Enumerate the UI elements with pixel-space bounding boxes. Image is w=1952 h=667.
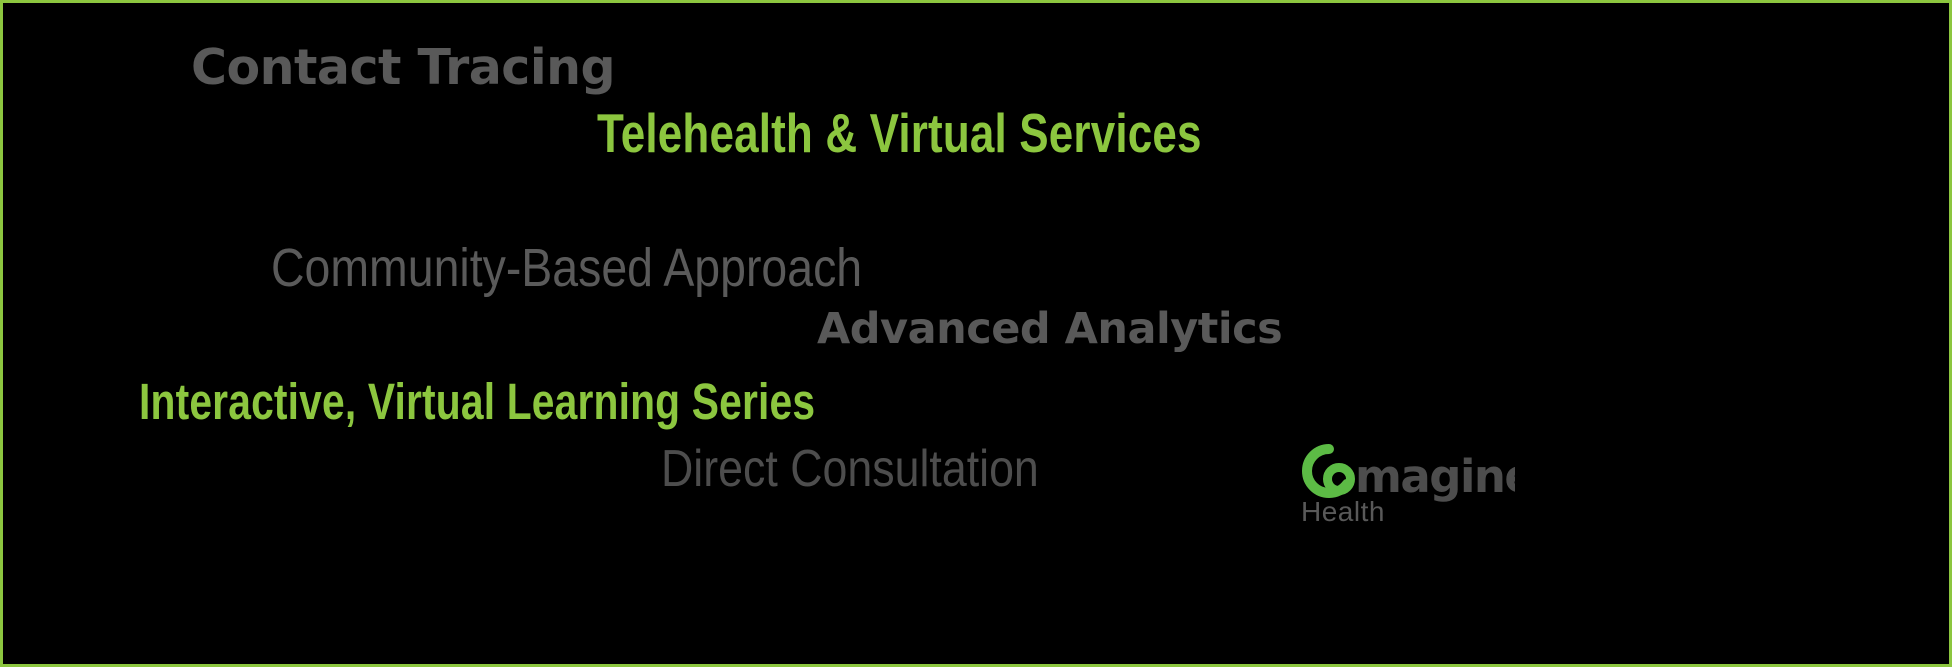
comagine-health-logo: magine Health: [1291, 435, 1515, 527]
word-advanced-analytics: Advanced Analytics: [817, 308, 1282, 351]
word-collage-canvas: Contact Tracing Telehealth & Virtual Ser…: [0, 0, 1952, 667]
word-interactive-virtual-learning-series: Interactive, Virtual Learning Series: [139, 376, 815, 427]
word-direct-consultation: Direct Consultation: [661, 443, 1039, 495]
word-telehealth-virtual-services: Telehealth & Virtual Services: [597, 106, 1202, 161]
word-contact-tracing: Contact Tracing: [191, 43, 615, 92]
logo-wordmark-health: Health: [1301, 496, 1385, 527]
logo-o-mark: [1328, 468, 1351, 491]
word-community-based-approach: Community-Based Approach: [271, 241, 862, 295]
